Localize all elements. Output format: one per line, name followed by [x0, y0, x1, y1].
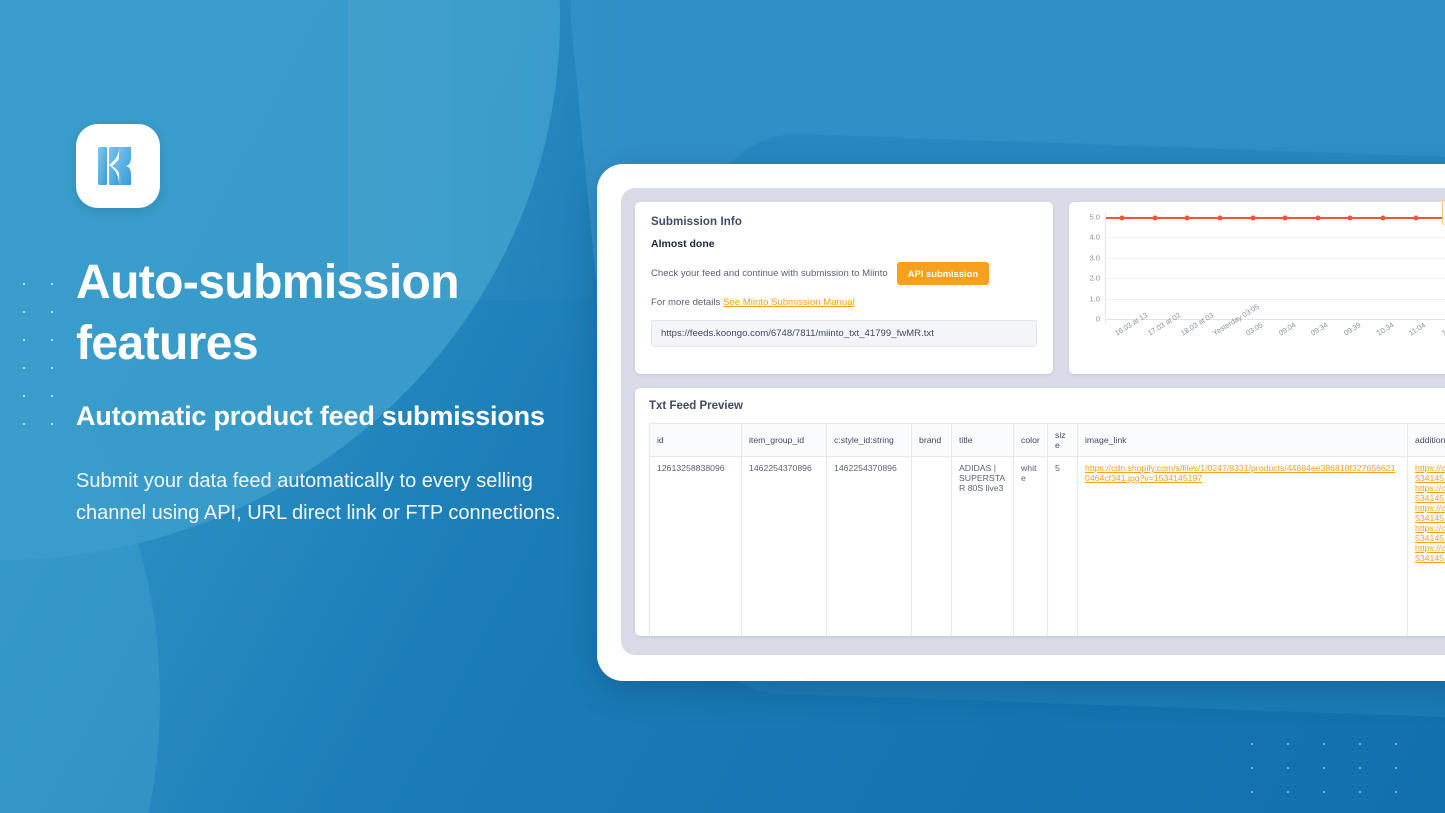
chart-data-point — [1120, 216, 1125, 221]
additional-image-cell: https://cdn.shopify.com/s/files/1/0247/8… — [1408, 457, 1445, 637]
additional-image-link[interactable]: https://cdn.shopify.com/s/files/1/0247/8… — [1415, 503, 1445, 523]
additional-image-link[interactable]: https://cdn.shopify.com/s/files/1/0247/8… — [1415, 463, 1445, 483]
koongo-k-logo-icon — [92, 140, 144, 192]
chart-grid-line — [1106, 237, 1445, 238]
chart-grid-line — [1106, 299, 1445, 300]
app-screenshot-panel: Submission Info Almost done Check your f… — [597, 164, 1445, 681]
submission-instruction-row: Check your feed and continue with submis… — [651, 262, 1037, 285]
chart-data-point — [1283, 216, 1288, 221]
chart-data-point — [1250, 216, 1255, 221]
chart-data-point — [1348, 216, 1353, 221]
submission-info-title: Submission Info — [651, 216, 1037, 228]
feed-table-column-header: brand — [912, 424, 952, 457]
submission-manual-link[interactable]: See Miinto Submission Manual — [723, 297, 855, 308]
chart-data-point — [1315, 216, 1320, 221]
feed-preview-table: iditem_group_idc:style_id:stringbrandtit… — [649, 423, 1445, 636]
line-chart: 5.04.03.02.01.00 16.03 at 1317.03 at 021… — [1077, 212, 1445, 364]
chart-grid-line — [1106, 319, 1445, 320]
chart-grid-line — [1106, 258, 1445, 259]
submission-instruction-text: Check your feed and continue with submis… — [651, 268, 888, 279]
table-cell — [912, 457, 952, 637]
api-submission-button[interactable]: API submission — [897, 262, 989, 285]
submission-details-row: For more details See Miinto Submission M… — [651, 297, 1037, 308]
feed-table-column-header: c:style_id:string — [827, 424, 912, 457]
feed-table-header-row: iditem_group_idc:style_id:stringbrandtit… — [650, 424, 1445, 457]
koongo-logo — [76, 124, 160, 208]
chart-y-tick-label: 5.0 — [1089, 213, 1100, 222]
feed-table-column-header: color — [1014, 424, 1048, 457]
table-cell: 12613258838096 — [650, 457, 742, 637]
chart-data-point — [1218, 216, 1223, 221]
chart-plot-area — [1105, 212, 1445, 324]
chart-y-tick-label: 0 — [1096, 315, 1100, 324]
feed-table-column-header: image_link — [1078, 424, 1408, 457]
chart-y-tick-label: 2.0 — [1089, 274, 1100, 283]
chart-y-tick-label: 1.0 — [1089, 294, 1100, 303]
feed-table-column-header: additional_image — [1408, 424, 1445, 457]
chart-y-axis: 5.04.03.02.01.00 — [1077, 212, 1103, 324]
chart-x-axis: 16.03 at 1317.03 at 0218.03 at 03Yesterd… — [1105, 328, 1445, 368]
txt-feed-preview-card: Txt Feed Preview Download iditem_group_i… — [635, 388, 1445, 636]
chart-data-point — [1152, 216, 1157, 221]
submission-details-prefix: For more details — [651, 297, 723, 308]
feed-table-column-header: id — [650, 424, 742, 457]
chart-data-point — [1380, 216, 1385, 221]
additional-image-link[interactable]: https://cdn.shopify.com/s/files/1/0247/8… — [1415, 543, 1445, 563]
dot-grid-left — [8, 268, 70, 428]
table-cell: white — [1014, 457, 1048, 637]
feed-table-scroll[interactable]: iditem_group_idc:style_id:stringbrandtit… — [649, 423, 1445, 636]
page-subtitle: Automatic product feed submissions — [76, 399, 596, 435]
submission-info-card: Submission Info Almost done Check your f… — [635, 202, 1053, 374]
feed-table-column-header: size — [1048, 424, 1078, 457]
table-cell: ADIDAS | SUPERSTAR 80S live3 — [952, 457, 1014, 637]
image-link[interactable]: https://cdn.shopify.com/s/files/1/0247/8… — [1085, 463, 1400, 483]
chart-data-point — [1185, 216, 1190, 221]
app-viewport: Submission Info Almost done Check your f… — [621, 188, 1445, 655]
chart-y-tick-label: 3.0 — [1089, 253, 1100, 262]
page-title: Auto-submission features — [76, 252, 596, 375]
hero-description: Submit your data feed automatically to e… — [76, 465, 596, 530]
chart-y-tick-label: 4.0 — [1089, 233, 1100, 242]
table-row: 1261325883809614622543708961462254370896… — [650, 457, 1445, 637]
feed-table-column-header: item_group_id — [742, 424, 827, 457]
additional-image-link[interactable]: https://cdn.shopify.com/s/files/1/0247/8… — [1415, 483, 1445, 503]
table-cell: 5 — [1048, 457, 1078, 637]
txt-feed-preview-title: Txt Feed Preview — [649, 400, 1445, 412]
chart-data-point — [1413, 216, 1418, 221]
image-link-cell: https://cdn.shopify.com/s/files/1/0247/8… — [1078, 457, 1408, 637]
feed-history-chart-card: 5.04.03.02.01.00 16.03 at 1317.03 at 021… — [1069, 202, 1445, 374]
feed-table-column-header: title — [952, 424, 1014, 457]
dashboard-top-row: Submission Info Almost done Check your f… — [635, 202, 1445, 374]
feed-table-body: 1261325883809614622543708961462254370896… — [650, 457, 1445, 637]
additional-image-link[interactable]: https://cdn.shopify.com/s/files/1/0247/8… — [1415, 523, 1445, 543]
table-cell: 1462254370896 — [742, 457, 827, 637]
submission-status: Almost done — [651, 238, 1037, 250]
table-cell: 1462254370896 — [827, 457, 912, 637]
hero-copy: Auto-submission features Automatic produ… — [76, 252, 596, 529]
chart-grid-line — [1106, 278, 1445, 279]
dot-grid-bottom-right — [1232, 730, 1400, 813]
feed-url-input[interactable] — [651, 320, 1037, 347]
